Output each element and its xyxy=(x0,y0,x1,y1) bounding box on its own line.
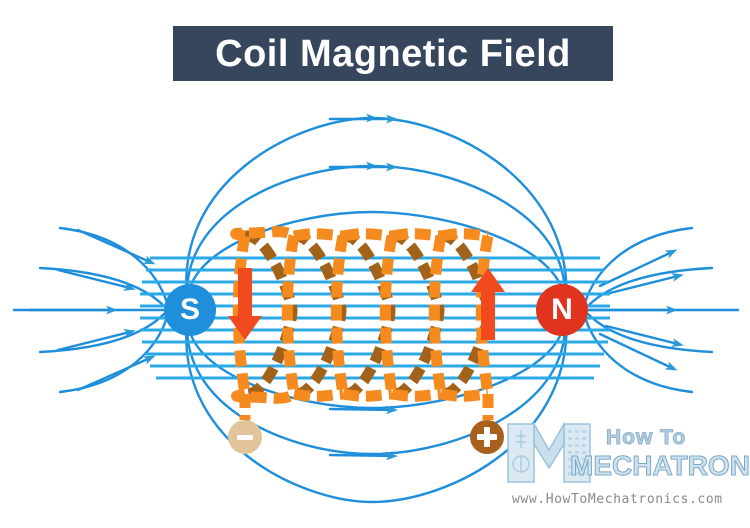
logo-line1: How To xyxy=(606,426,686,450)
north-pole-marker: N xyxy=(536,284,588,336)
logo-line2: MECHATRONICS xyxy=(570,450,750,482)
site-logo[interactable]: How To MECHATRONICS www.HowToMechatronic… xyxy=(506,420,744,518)
logo-url: www.HowToMechatronics.com xyxy=(512,492,723,507)
south-pole-label: S xyxy=(180,293,200,327)
diagram-canvas: Coil Magnetic Field S N xyxy=(0,0,750,528)
positive-terminal xyxy=(470,420,504,454)
title-banner: Coil Magnetic Field xyxy=(173,26,613,81)
south-pole-marker: S xyxy=(164,284,216,336)
negative-terminal xyxy=(228,420,262,454)
logo-wordmark: How To MECHATRONICS xyxy=(590,426,744,486)
north-pole-label: N xyxy=(551,293,573,327)
page-title: Coil Magnetic Field xyxy=(215,35,571,73)
plus-icon xyxy=(477,434,497,440)
minus-icon xyxy=(237,435,253,440)
